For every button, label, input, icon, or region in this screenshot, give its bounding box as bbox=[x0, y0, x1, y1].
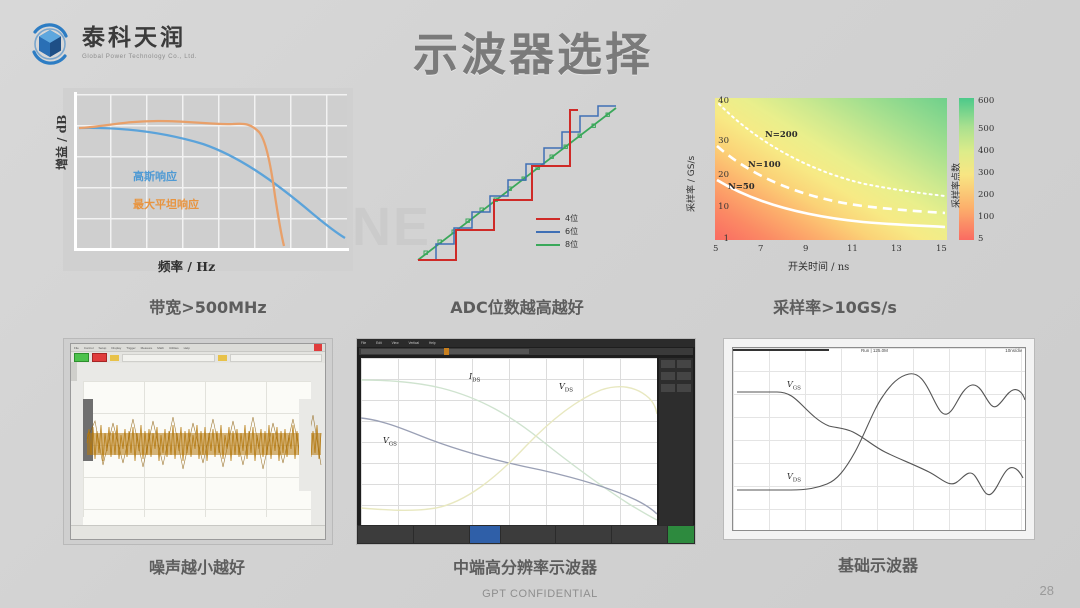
heatmap-y-axis-label: 采样率 / GS/s bbox=[684, 156, 697, 212]
measure-settings[interactable] bbox=[556, 526, 611, 543]
adc-staircase-curves bbox=[408, 92, 626, 272]
logo-chinese-name: 泰科天润 bbox=[82, 27, 197, 50]
stop-button[interactable] bbox=[92, 353, 107, 362]
panel-button[interactable] bbox=[677, 360, 691, 368]
colorbar-tick-200: 200 bbox=[978, 190, 994, 200]
caption-sample-rate: 采样率>10GS/s bbox=[690, 294, 980, 318]
colorbar-tick-100: 100 bbox=[978, 212, 994, 222]
chart-bandwidth-response: 高斯响应 最大平坦响应 增益 / dB 频率 / Hz bbox=[63, 88, 353, 271]
toolbar-field[interactable] bbox=[122, 354, 215, 362]
menu-item: Vertical bbox=[409, 341, 419, 345]
colorbar-tick-5: 5 bbox=[978, 234, 983, 244]
contour-label-n100: N=100 bbox=[748, 160, 781, 170]
trace-label-ids: IDS bbox=[469, 372, 480, 384]
annotation-maxflat: 最大平坦响应 bbox=[133, 196, 199, 212]
menu-item: Trigger bbox=[126, 346, 135, 350]
colorbar-tick-600: 600 bbox=[978, 96, 994, 106]
close-icon[interactable] bbox=[314, 344, 322, 351]
autoscale-button[interactable] bbox=[218, 355, 227, 361]
midrange-scope-screenshot[interactable]: File Edit View Vertical Help IDS VDS VGS bbox=[356, 338, 696, 545]
x-tick-15: 15 bbox=[936, 244, 947, 254]
single-button[interactable] bbox=[110, 355, 119, 361]
trace-label-vgs: VGS bbox=[383, 436, 397, 448]
menu-item: Measure bbox=[141, 346, 153, 350]
x-tick-11: 11 bbox=[847, 244, 858, 254]
colorbar-tick-400: 400 bbox=[978, 146, 994, 156]
y-tick-1: 1 bbox=[709, 234, 729, 244]
chart-sample-rate-heatmap: N=200 N=100 N=50 1 10 20 30 40 5 7 9 11 … bbox=[670, 92, 1010, 277]
menu-item: View bbox=[392, 341, 399, 345]
caption-basic: 基础示波器 bbox=[723, 552, 1033, 576]
scope2-bottom-strip[interactable] bbox=[357, 525, 695, 544]
basic-scope-screenshot[interactable]: Run | 125.0M 10ns/div VGS VDS bbox=[723, 338, 1035, 540]
chart-adc-quantization: 4位 6位 8位 bbox=[408, 92, 626, 272]
panel-button[interactable] bbox=[677, 384, 691, 392]
panel-button[interactable] bbox=[677, 372, 691, 380]
annotation-gaussian: 高斯响应 bbox=[133, 168, 177, 184]
trigger-field[interactable] bbox=[75, 362, 77, 381]
hexagon-cube-logo-icon bbox=[26, 20, 74, 68]
x-tick-13: 13 bbox=[891, 244, 902, 254]
menu-item: Help bbox=[184, 346, 190, 350]
scope1-right-rail[interactable] bbox=[299, 399, 311, 491]
toolbar-field-2[interactable] bbox=[230, 354, 323, 362]
menu-item: Display bbox=[111, 346, 121, 350]
scope2-menubar[interactable]: File Edit View Vertical Help bbox=[357, 339, 695, 347]
scope1-toolbar[interactable] bbox=[71, 351, 325, 363]
trace-label-vgs: VGS bbox=[787, 380, 801, 392]
scope3-screen[interactable]: Run | 125.0M 10ns/div VGS VDS bbox=[732, 347, 1026, 531]
menu-item: Edit bbox=[376, 341, 382, 345]
y-tick-30: 30 bbox=[709, 136, 729, 146]
legend-label-4bit: 4位 bbox=[565, 213, 578, 224]
legend-swatch-8bit bbox=[536, 244, 560, 246]
legend-label-8bit: 8位 bbox=[565, 239, 578, 250]
menu-item: File bbox=[74, 346, 79, 350]
panel-button[interactable] bbox=[661, 384, 675, 392]
ch1-settings[interactable] bbox=[358, 526, 413, 543]
colorbar-tick-300: 300 bbox=[978, 168, 994, 178]
legend-item-4bit: 4位 bbox=[536, 212, 578, 225]
x-tick-7: 7 bbox=[758, 244, 763, 254]
scope1-menubar[interactable]: File Control Setup Display Trigger Measu… bbox=[71, 344, 325, 351]
y-axis-label: 增益 / dB bbox=[53, 115, 70, 170]
footer-confidential: GPT CONFIDENTIAL bbox=[0, 588, 1080, 600]
colorbar-label: 采样率点数 bbox=[949, 163, 962, 208]
menu-item: Utilities bbox=[169, 346, 179, 350]
trigger-marker-icon[interactable] bbox=[444, 348, 449, 355]
page-title: 示波器选择 bbox=[413, 18, 653, 83]
caption-adc: ADC位数越高越好 bbox=[408, 294, 626, 318]
scope1-toolbar-2[interactable] bbox=[71, 363, 325, 381]
scope2-right-panel[interactable] bbox=[659, 358, 693, 526]
menu-item: Setup bbox=[99, 346, 107, 350]
run-stop-button[interactable] bbox=[668, 526, 694, 543]
ch2-settings[interactable] bbox=[414, 526, 469, 543]
trace-label-vds: VDS bbox=[787, 472, 801, 484]
run-button[interactable] bbox=[74, 353, 89, 362]
panel-button[interactable] bbox=[661, 372, 675, 380]
noise-waveform-screenshot[interactable]: File Control Setup Display Trigger Measu… bbox=[63, 338, 333, 545]
y-tick-10: 10 bbox=[709, 202, 729, 212]
caption-midrange: 中端高分辨率示波器 bbox=[356, 554, 694, 578]
menu-item: Help bbox=[429, 341, 436, 345]
legend-swatch-4bit bbox=[536, 218, 560, 220]
colorbar-tick-500: 500 bbox=[978, 124, 994, 134]
legend-swatch-6bit bbox=[536, 231, 560, 233]
company-logo: 泰科天润 Global Power Technology Co., Ltd. bbox=[26, 20, 197, 68]
scope2-traces bbox=[361, 358, 657, 526]
timebase-settings[interactable] bbox=[501, 526, 556, 543]
logo-english-name: Global Power Technology Co., Ltd. bbox=[82, 54, 197, 60]
scope1-bottom-bar[interactable] bbox=[71, 525, 325, 539]
slide-canvas: 泰科天润 Global Power Technology Co., Ltd. 示… bbox=[0, 0, 1080, 608]
ch3-settings[interactable] bbox=[470, 526, 500, 543]
bandwidth-curves bbox=[63, 88, 353, 271]
legend-item-6bit: 6位 bbox=[536, 225, 578, 238]
caption-noise: 噪声越小越好 bbox=[63, 554, 331, 578]
heatmap-x-axis-label: 开关时间 / ns bbox=[788, 258, 849, 273]
contour-label-n50: N=50 bbox=[728, 182, 755, 192]
scope1-waveform-area[interactable] bbox=[83, 381, 311, 517]
menu-item: File bbox=[361, 341, 366, 345]
noise-trace bbox=[83, 381, 325, 511]
legend-item-8bit: 8位 bbox=[536, 238, 578, 251]
page-number: 28 bbox=[1040, 583, 1054, 598]
scope1-x-axis bbox=[83, 517, 311, 525]
x-axis-label: 频率 / Hz bbox=[158, 256, 215, 275]
menu-item: Math bbox=[157, 346, 164, 350]
menu-item: Control bbox=[84, 346, 94, 350]
caption-bandwidth: 带宽>500MHz bbox=[63, 294, 353, 318]
legend-label-6bit: 6位 bbox=[565, 226, 578, 237]
contour-label-n200: N=200 bbox=[765, 130, 798, 140]
y-tick-20: 20 bbox=[709, 170, 729, 180]
panel-button[interactable] bbox=[661, 360, 675, 368]
scope3-traces bbox=[733, 348, 1025, 530]
adc-legend: 4位 6位 8位 bbox=[536, 212, 578, 251]
scope2-waveform-area[interactable]: IDS VDS VGS bbox=[361, 358, 657, 526]
scope2-record-bar[interactable] bbox=[359, 348, 693, 355]
trace-label-vds: VDS bbox=[559, 382, 573, 394]
x-tick-9: 9 bbox=[803, 244, 808, 254]
trigger-settings[interactable] bbox=[612, 526, 667, 543]
y-tick-40: 40 bbox=[709, 96, 729, 106]
x-tick-5: 5 bbox=[713, 244, 718, 254]
